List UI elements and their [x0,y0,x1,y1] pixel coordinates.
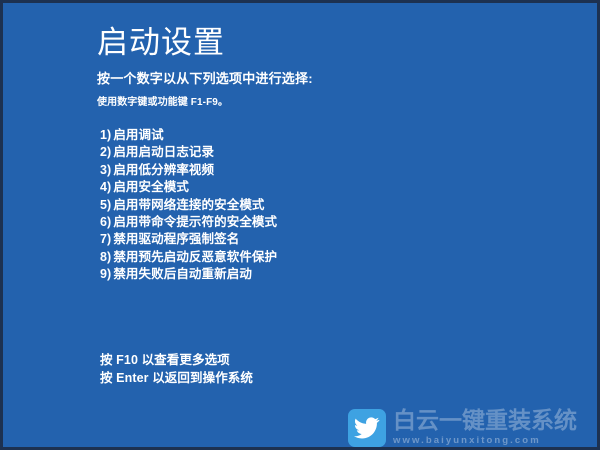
boot-option-number: 5) [100,197,111,214]
boot-option-3[interactable]: 3)启用低分辨率视频 [100,162,277,179]
keyboard-hint: 使用数字键或功能键 F1-F9。 [97,95,557,111]
boot-option-9[interactable]: 9)禁用失败后自动重新启动 [100,266,277,283]
boot-option-number: 1) [100,127,111,144]
boot-option-8[interactable]: 8)禁用预先启动反恶意软件保护 [100,249,277,266]
boot-option-number: 7) [100,231,111,248]
boot-option-label: 启用启动日志记录 [113,144,214,161]
boot-option-2[interactable]: 2)启用启动日志记录 [100,144,277,161]
boot-option-5[interactable]: 5)启用带网络连接的安全模式 [100,197,277,214]
instruction-subtitle: 按一个数字以从下列选项中进行选择: [97,69,557,89]
boot-options-list: 1)启用调试 2)启用启动日志记录 3)启用低分辨率视频 4)启用安全模式 5)… [100,127,277,284]
watermark-brand: 白云一键重装系统 [393,408,577,433]
boot-option-4[interactable]: 4)启用安全模式 [100,179,277,196]
watermark: 白云一键重装系统 www.baiyunxitong.com [348,405,600,450]
boot-option-label: 禁用驱动程序强制签名 [113,231,239,248]
boot-option-number: 4) [100,179,111,196]
boot-option-number: 9) [100,266,111,283]
boot-option-label: 启用安全模式 [113,179,189,196]
watermark-text: 白云一键重装系统 www.baiyunxitong.com [393,405,577,448]
boot-option-number: 8) [100,249,111,266]
boot-option-label: 禁用失败后自动重新启动 [113,266,252,283]
boot-option-number: 6) [100,214,111,231]
boot-option-label: 启用带命令提示符的安全模式 [113,214,277,231]
bird-icon [348,409,386,447]
boot-option-label: 启用调试 [113,127,163,144]
boot-option-number: 3) [100,162,111,179]
boot-option-label: 启用低分辨率视频 [113,162,214,179]
boot-option-label: 禁用预先启动反恶意软件保护 [113,249,277,266]
page-title: 启动设置 [97,23,557,63]
boot-option-6[interactable]: 6)启用带命令提示符的安全模式 [100,214,277,231]
boot-option-label: 启用带网络连接的安全模式 [113,197,264,214]
more-options-instruction: 按 F10 以查看更多选项 [100,351,253,369]
boot-option-1[interactable]: 1)启用调试 [100,127,277,144]
boot-option-7[interactable]: 7)禁用驱动程序强制签名 [100,231,277,248]
footer-instructions: 按 F10 以查看更多选项 按 Enter 以返回到操作系统 [100,351,253,387]
return-os-instruction: 按 Enter 以返回到操作系统 [100,369,253,387]
header-block: 启动设置 按一个数字以从下列选项中进行选择: 使用数字键或功能键 F1-F9。 [97,23,557,111]
watermark-url: www.baiyunxitong.com [393,434,577,448]
startup-settings-screen: 启动设置 按一个数字以从下列选项中进行选择: 使用数字键或功能键 F1-F9。 … [0,0,600,450]
boot-option-number: 2) [100,144,111,161]
